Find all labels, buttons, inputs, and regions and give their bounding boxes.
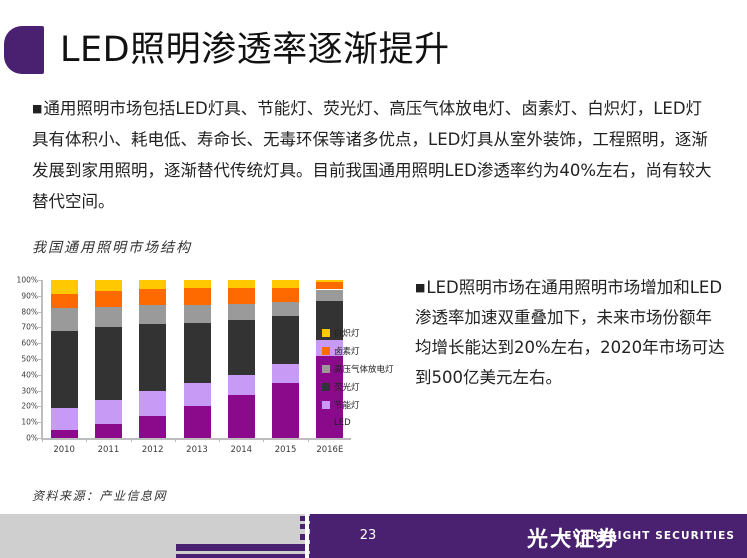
- x-axis-tick-label: 2010: [53, 445, 75, 455]
- y-axis-tick: [37, 391, 41, 392]
- page-number: 23: [348, 528, 388, 543]
- bar-segment-LED: [272, 383, 299, 438]
- bar-segment-卤素灯: [316, 282, 343, 290]
- chart-bar-2010: [51, 280, 78, 438]
- y-axis-tick-label: 90%: [21, 291, 38, 300]
- bar-segment-节能灯: [184, 383, 211, 407]
- bar-segment-高压气体放电灯: [95, 307, 122, 328]
- y-axis-tick: [37, 422, 41, 423]
- footer-stripe-gap: [305, 514, 309, 558]
- bar-segment-卤素灯: [272, 288, 299, 302]
- bar-segment-节能灯: [95, 400, 122, 424]
- legend-item-LED[interactable]: LED: [322, 414, 422, 432]
- chart-legend: 白炽灯卤素灯高压气体放电灯荧光灯节能灯LED: [322, 324, 422, 432]
- title-accent-mark: [4, 26, 44, 74]
- bar-segment-卤素灯: [184, 288, 211, 305]
- bar-segment-荧光灯: [139, 324, 166, 390]
- y-axis-tick: [37, 343, 41, 344]
- source-note: 资料来源：产业信息网: [32, 487, 167, 504]
- right-paragraph-text: LED照明市场在通用照明市场增加和LED渗透率加速双重叠加下，未来市场份额年均增…: [415, 278, 725, 387]
- bar-segment-白炽灯: [95, 280, 122, 291]
- legend-label: 荧光灯: [334, 381, 360, 393]
- y-axis-tick-label: 70%: [21, 323, 38, 332]
- x-axis-tick: [219, 438, 220, 442]
- bar-segment-LED: [51, 430, 78, 438]
- footer-stripe-2: [176, 554, 386, 558]
- y-axis-tick-label: 60%: [21, 339, 38, 348]
- body-paragraph-text: 通用照明市场包括LED灯具、节能灯、荧光灯、高压气体放电灯、卤素灯、白炽灯，LE…: [32, 99, 712, 211]
- x-axis-tick: [42, 438, 43, 442]
- bullet-icon: ■: [415, 281, 426, 294]
- x-axis-labels: 2010201120122013201420152016E: [42, 445, 352, 461]
- x-axis-tick: [263, 438, 264, 442]
- legend-label: LED: [334, 418, 351, 428]
- y-axis-tick-label: 30%: [21, 386, 38, 395]
- y-axis-tick: [37, 296, 41, 297]
- bar-segment-卤素灯: [139, 289, 166, 305]
- legend-item-卤素灯[interactable]: 卤素灯: [322, 342, 422, 360]
- chart-bar-2011: [95, 280, 122, 438]
- bar-segment-高压气体放电灯: [51, 308, 78, 330]
- y-axis-tick: [37, 312, 41, 313]
- x-axis-tick-label: 2013: [186, 445, 208, 455]
- right-paragraph: ■LED照明市场在通用照明市场增加和LED渗透率加速双重叠加下，未来市场份额年均…: [415, 273, 725, 393]
- y-axis-tick-label: 80%: [21, 307, 38, 316]
- bar-segment-LED: [228, 395, 255, 438]
- x-axis-tick-label: 2014: [230, 445, 252, 455]
- y-axis-tick: [37, 327, 41, 328]
- body-paragraph: ■通用照明市场包括LED灯具、节能灯、荧光灯、高压气体放电灯、卤素灯、白炽灯，L…: [32, 93, 712, 217]
- bar-segment-卤素灯: [228, 288, 255, 304]
- footer-gray-band: [0, 514, 310, 558]
- legend-label: 白炽灯: [334, 327, 360, 339]
- bullet-icon: ■: [32, 102, 43, 115]
- slide-footer: 23 光大证券 EVERBRIGHT SECURITIES: [0, 514, 747, 558]
- x-axis-tick: [175, 438, 176, 442]
- slide-title-row: LED照明渗透率逐渐提升: [0, 22, 450, 78]
- bar-segment-高压气体放电灯: [272, 302, 299, 316]
- y-axis-tick: [37, 438, 41, 439]
- bar-segment-高压气体放电灯: [228, 304, 255, 320]
- y-axis-tick-label: 100%: [17, 276, 38, 285]
- legend-label: 卤素灯: [334, 345, 360, 357]
- bar-segment-LED: [95, 424, 122, 438]
- chart-bar-2012: [139, 280, 166, 438]
- y-axis-labels: 0%10%20%30%40%50%60%70%80%90%100%: [8, 275, 38, 435]
- chart-title: 我国通用照明市场结构: [32, 237, 192, 257]
- bar-segment-荧光灯: [184, 323, 211, 383]
- y-axis-tick-label: 20%: [21, 402, 38, 411]
- bar-segment-荧光灯: [272, 316, 299, 363]
- x-axis-tick-label: 2016E: [316, 445, 343, 455]
- y-axis-tick: [37, 375, 41, 376]
- x-axis-line: [41, 438, 351, 440]
- bar-segment-白炽灯: [228, 280, 255, 288]
- x-axis-tick-label: 2012: [142, 445, 164, 455]
- footer-stripe-1: [176, 544, 386, 551]
- bar-segment-节能灯: [51, 408, 78, 430]
- legend-label: 高压气体放电灯: [334, 363, 394, 375]
- bar-segment-节能灯: [139, 391, 166, 416]
- legend-item-荧光灯[interactable]: 荧光灯: [322, 378, 422, 396]
- y-axis-tick: [37, 406, 41, 407]
- bar-segment-荧光灯: [51, 331, 78, 408]
- x-axis-tick-label: 2011: [98, 445, 120, 455]
- x-axis-tick-label: 2015: [275, 445, 297, 455]
- bar-segment-LED: [139, 416, 166, 438]
- company-logo-en: EVERBRIGHT SECURITIES: [564, 530, 735, 542]
- bar-segment-高压气体放电灯: [139, 305, 166, 324]
- chart-bar-2013: [184, 280, 211, 438]
- bar-segment-节能灯: [272, 364, 299, 383]
- bar-segment-白炽灯: [272, 280, 299, 288]
- x-axis-tick: [86, 438, 87, 442]
- legend-item-高压气体放电灯[interactable]: 高压气体放电灯: [322, 360, 422, 378]
- bar-segment-卤素灯: [95, 291, 122, 307]
- y-axis-tick: [37, 280, 41, 281]
- y-axis-tick-label: 50%: [21, 355, 38, 364]
- chart-plot-area: [42, 280, 352, 438]
- bar-segment-LED: [184, 406, 211, 438]
- chart-bar-2015: [272, 280, 299, 438]
- chart-bar-2014: [228, 280, 255, 438]
- legend-swatch-icon: [322, 329, 330, 337]
- x-axis-tick: [131, 438, 132, 442]
- y-axis-tick: [37, 359, 41, 360]
- bar-segment-白炽灯: [316, 280, 343, 282]
- legend-swatch-icon: [322, 383, 330, 391]
- legend-item-白炽灯[interactable]: 白炽灯: [322, 324, 422, 342]
- page-title: LED照明渗透率逐渐提升: [60, 33, 450, 68]
- x-axis-tick: [308, 438, 309, 442]
- bar-segment-白炽灯: [139, 280, 166, 289]
- y-axis-tick-label: 40%: [21, 370, 38, 379]
- legend-label: 节能灯: [334, 399, 360, 411]
- bar-segment-卤素灯: [51, 294, 78, 308]
- bar-segment-高压气体放电灯: [316, 290, 343, 301]
- bar-segment-节能灯: [228, 375, 255, 396]
- slide-root: LED照明渗透率逐渐提升 ■通用照明市场包括LED灯具、节能灯、荧光灯、高压气体…: [0, 0, 747, 558]
- bar-segment-荧光灯: [95, 327, 122, 400]
- bar-segment-荧光灯: [228, 320, 255, 375]
- y-axis-tick-label: 10%: [21, 418, 38, 427]
- legend-swatch-icon: [322, 347, 330, 355]
- legend-swatch-icon: [322, 365, 330, 373]
- bar-segment-白炽灯: [184, 280, 211, 288]
- legend-swatch-icon: [322, 401, 330, 409]
- legend-item-节能灯[interactable]: 节能灯: [322, 396, 422, 414]
- bar-segment-白炽灯: [51, 280, 78, 294]
- legend-swatch-icon: [322, 419, 330, 427]
- bar-segment-高压气体放电灯: [184, 305, 211, 322]
